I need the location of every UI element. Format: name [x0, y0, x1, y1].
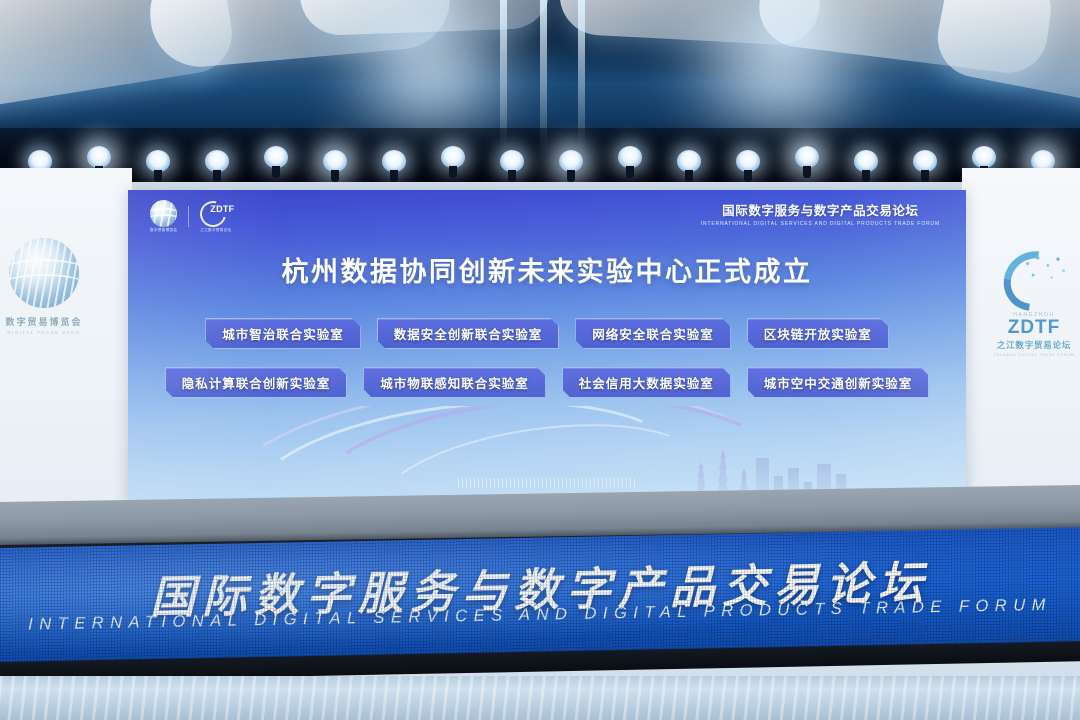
stage-spotlight [87, 146, 111, 168]
screen-header: 数字贸易博览会 ZDTF 之江数字贸易论坛 国际数字服务与数字产品交易论坛 IN… [128, 198, 966, 234]
main-led-screen: 数字贸易博览会 ZDTF 之江数字贸易论坛 国际数字服务与数字产品交易论坛 IN… [128, 190, 966, 502]
ceiling-structure [0, 0, 1080, 182]
stage-spotlight [382, 150, 406, 172]
stage-spotlight [795, 146, 819, 168]
screen-header-logos: 数字贸易博览会 ZDTF 之江数字贸易论坛 [150, 200, 231, 233]
main-announcement-title: 杭州数据协同创新未来实验中心正式成立 [128, 250, 966, 289]
globe-icon [150, 200, 177, 227]
lab-button-grid: 城市智治联合实验室 数据安全创新联合实验室 网络安全联合实验室 区块链开放实验室… [128, 318, 966, 398]
right-wall-label-cn: 之江数字贸易论坛 [982, 339, 1080, 351]
zdtf-ring [196, 196, 232, 232]
globe-lines [150, 200, 177, 227]
zdtf-icon: ZDTF [200, 200, 230, 227]
right-wall-label-en: ZHIJIANG DIGITAL TRADE FORUM [982, 353, 1080, 357]
ceiling-glow [640, 0, 920, 140]
right-wall-mark: ZDTF [982, 318, 1080, 337]
zdtf-mark-text: ZDTF [210, 204, 234, 214]
globe-lines [9, 238, 79, 308]
lab-row-1: 城市智治联合实验室 数据安全创新联合实验室 网络安全联合实验室 区块链开放实验室 [205, 318, 889, 349]
lab-item[interactable]: 网络安全联合实验室 [575, 318, 731, 349]
forum-title-en: INTERNATIONAL DIGITAL SERVICES AND DIGIT… [701, 221, 940, 227]
lab-row-2: 隐私计算联合创新实验室 城市物联感知联合实验室 社会信用大数据实验室 城市空中交… [165, 367, 930, 398]
stage-spotlight [264, 146, 288, 168]
venue-stage-scene: 数字贸易博览会 DIGITAL TRADE EXPO HANGZHOU ZDTF… [0, 0, 1080, 720]
light-trail [458, 478, 638, 488]
stage-spotlight [677, 150, 701, 172]
stage-spotlight [500, 150, 524, 172]
lab-item[interactable]: 隐私计算联合创新实验室 [165, 367, 348, 398]
left-wall-label-cn: 数字贸易博览会 [0, 315, 104, 328]
stage-spotlight [736, 150, 760, 172]
stage-spotlight [618, 146, 642, 168]
zdtf-logo: ZDTF 之江数字贸易论坛 [200, 200, 231, 233]
lab-item[interactable]: 城市智治联合实验室 [205, 318, 361, 349]
zdtf-arc-icon [1003, 252, 1065, 310]
globe-icon [9, 238, 79, 308]
logo-divider [188, 206, 189, 227]
ceiling-panel [931, 0, 1080, 113]
stage-spotlight [205, 150, 229, 172]
lab-item[interactable]: 区块链开放实验室 [747, 318, 889, 349]
venue-floor [0, 676, 1080, 720]
screen-skyline-graphic [128, 406, 966, 502]
expo-logo: 数字贸易博览会 [150, 200, 177, 233]
left-wall-label-en: DIGITAL TRADE EXPO [0, 330, 104, 335]
stage-spotlight [913, 150, 937, 172]
zdtf-dot-cluster [1023, 254, 1069, 286]
lab-item[interactable]: 社会信用大数据实验室 [562, 367, 731, 398]
stage-spotlight [323, 150, 347, 172]
stage-spotlight [146, 150, 170, 172]
stage-spotlight [441, 146, 465, 168]
right-wall-zdtf-logo: HANGZHOU ZDTF 之江数字贸易论坛 ZHIJIANG DIGITAL … [982, 252, 1080, 357]
lab-item[interactable]: 数据安全创新联合实验室 [377, 318, 560, 349]
left-wall-expo-logo: 数字贸易博览会 DIGITAL TRADE EXPO [0, 238, 104, 335]
stage-spotlight [972, 146, 996, 168]
stage-spotlight [854, 150, 878, 172]
forum-title-cn: 国际数字服务与数字产品交易论坛 [701, 200, 940, 219]
zdtf-logo-label: 之江数字贸易论坛 [200, 228, 231, 233]
expo-logo-label: 数字贸易博览会 [150, 228, 177, 233]
lab-item[interactable]: 城市物联感知联合实验室 [363, 367, 546, 398]
screen-forum-title-block: 国际数字服务与数字产品交易论坛 INTERNATIONAL DIGITAL SE… [701, 200, 940, 227]
stage-spotlight [559, 150, 583, 172]
ceiling-glow [300, 0, 560, 140]
lab-item[interactable]: 城市空中交通创新实验室 [747, 367, 930, 398]
